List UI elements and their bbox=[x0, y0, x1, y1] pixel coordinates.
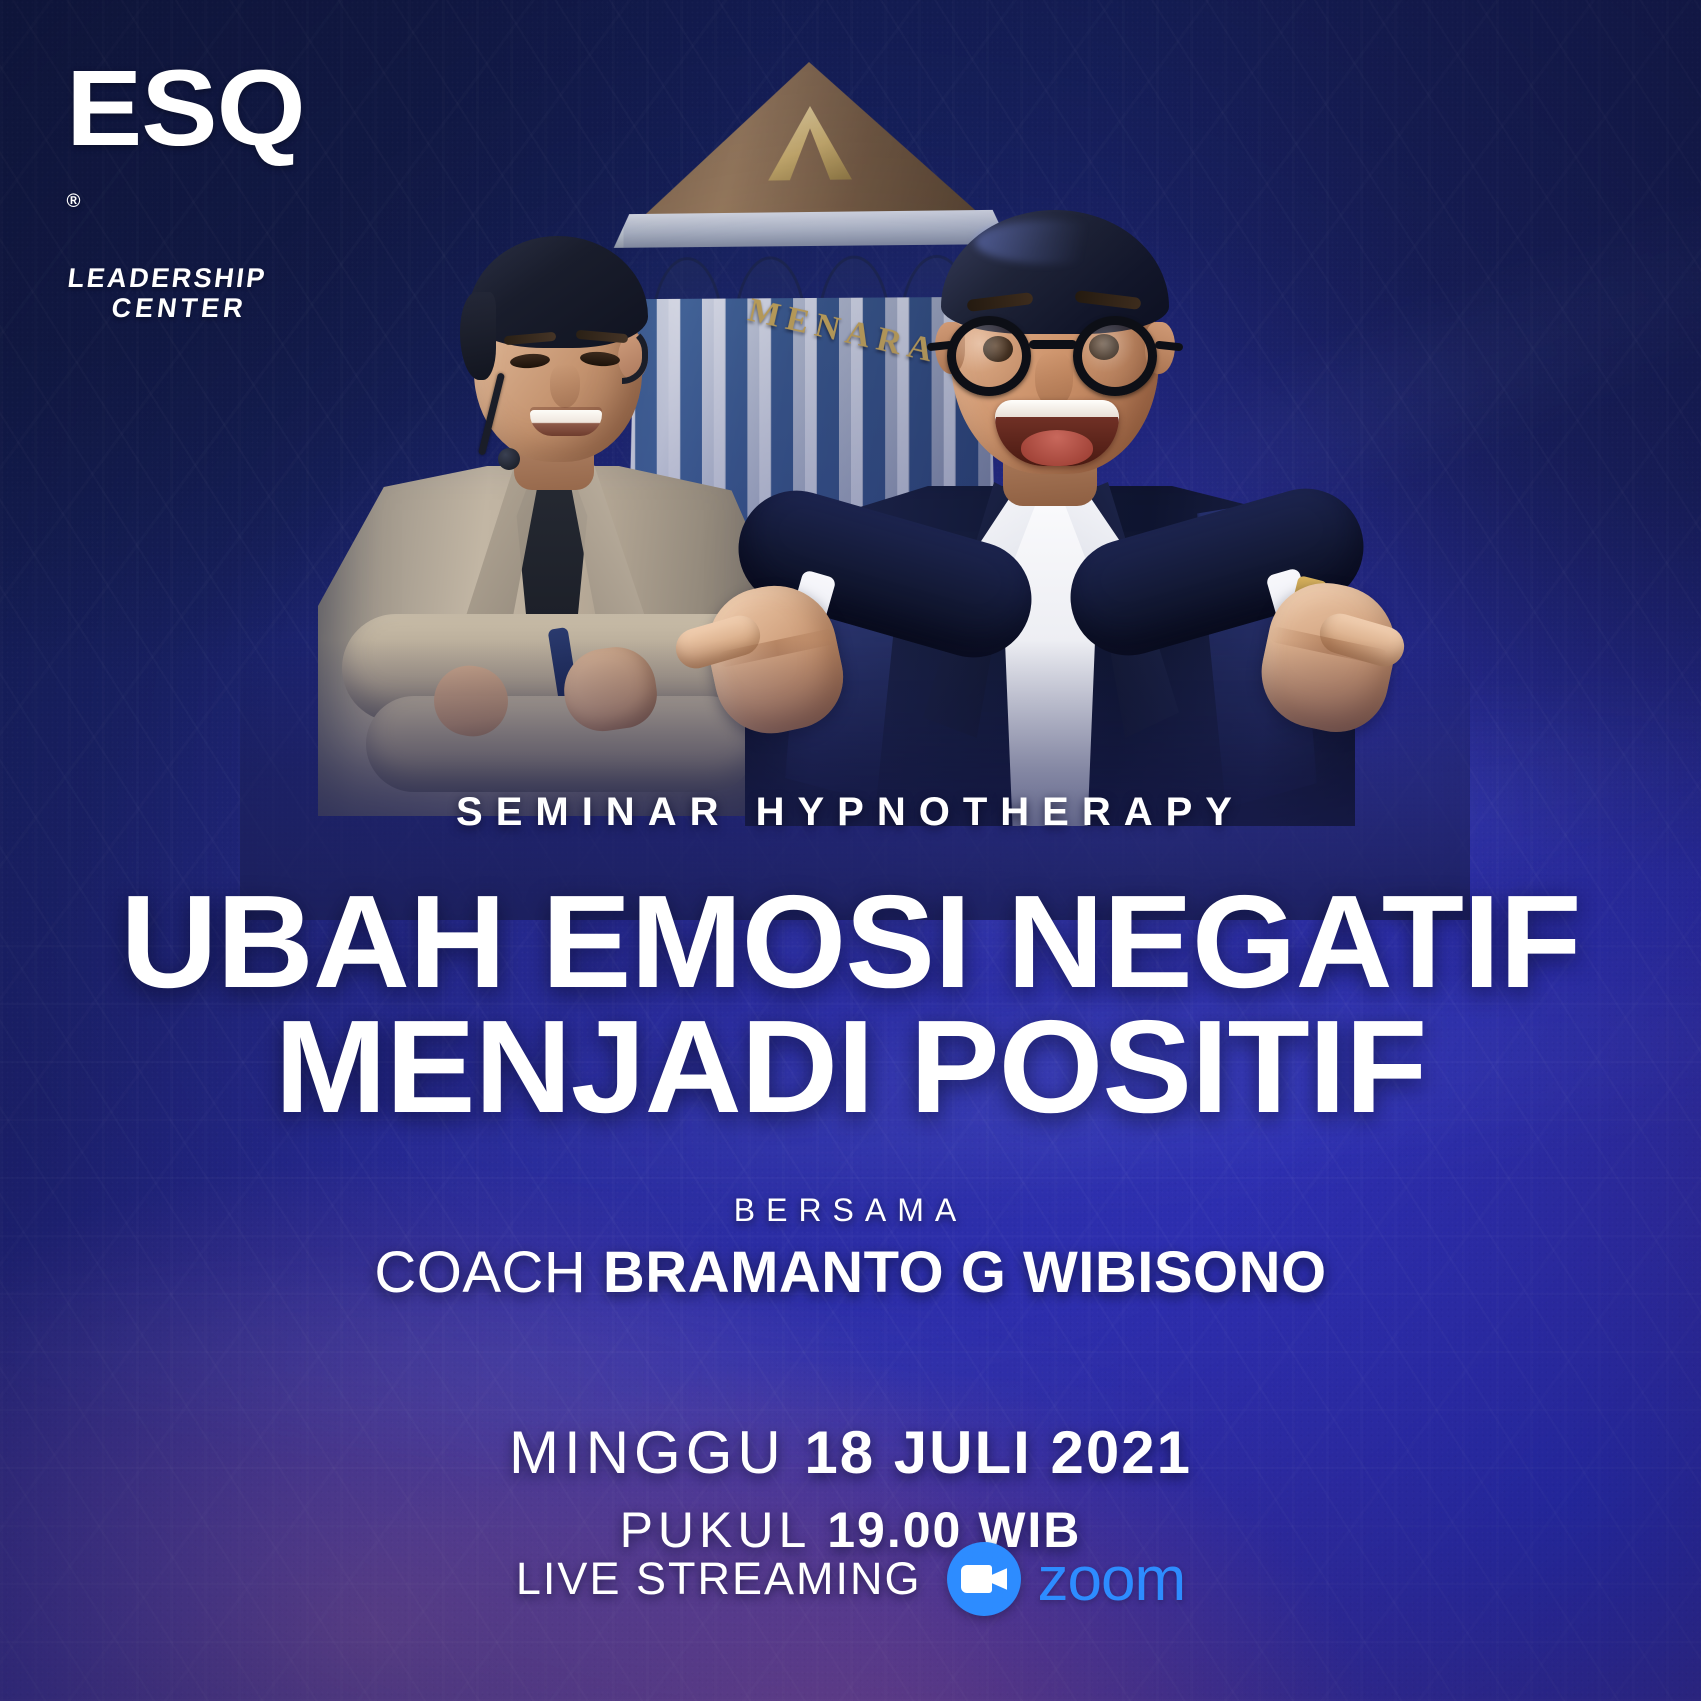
live-streaming-footer: LIVE STREAMING zoom bbox=[0, 1542, 1701, 1616]
live-streaming-label: LIVE STREAMING bbox=[516, 1553, 922, 1605]
event-date: 18 JULI 2021 bbox=[804, 1419, 1192, 1486]
registered-trademark-icon: ® bbox=[66, 193, 80, 210]
coach-name: BRAMANTO G WIBISONO bbox=[603, 1240, 1327, 1305]
logo-subtitle-line2: CENTER bbox=[62, 293, 296, 323]
zoom-logo-lockup: zoom bbox=[947, 1542, 1185, 1616]
title-line-2: MENJADI POSITIF bbox=[0, 1004, 1701, 1129]
logo-wordmark: ESQ® bbox=[66, 58, 310, 257]
logo-mark-text: ESQ bbox=[66, 47, 305, 168]
poster-text-block: SEMINAR HYPNOTHERAPY UBAH EMOSI NEGATIF … bbox=[0, 790, 1701, 1559]
coach-prefix: COACH bbox=[374, 1240, 586, 1305]
promotional-poster: MENARA 165 bbox=[0, 0, 1701, 1701]
logo-subtitle: LEADERSHIP CENTER bbox=[62, 263, 299, 323]
video-camera-icon bbox=[947, 1542, 1021, 1616]
event-date-line: MINGGU 18 JULI 2021 bbox=[0, 1418, 1701, 1487]
title-line-1: UBAH EMOSI NEGATIF bbox=[0, 879, 1701, 1004]
esq-leadership-center-logo: ESQ® LEADERSHIP CENTER bbox=[66, 58, 296, 323]
seminar-kicker: SEMINAR HYPNOTHERAPY bbox=[0, 790, 1701, 835]
zoom-wordmark: zoom bbox=[1037, 1544, 1185, 1615]
logo-subtitle-line1: LEADERSHIP bbox=[66, 263, 269, 293]
camera-glyph bbox=[961, 1565, 1007, 1593]
event-day: MINGGU bbox=[509, 1419, 786, 1486]
camera-lens bbox=[990, 1568, 1007, 1590]
coach-name-line: COACH BRAMANTO G WIBISONO bbox=[0, 1239, 1701, 1306]
page-title: UBAH EMOSI NEGATIF MENJADI POSITIF bbox=[0, 879, 1701, 1130]
bersama-label: BERSAMA bbox=[0, 1192, 1701, 1229]
camera-body bbox=[961, 1565, 992, 1593]
